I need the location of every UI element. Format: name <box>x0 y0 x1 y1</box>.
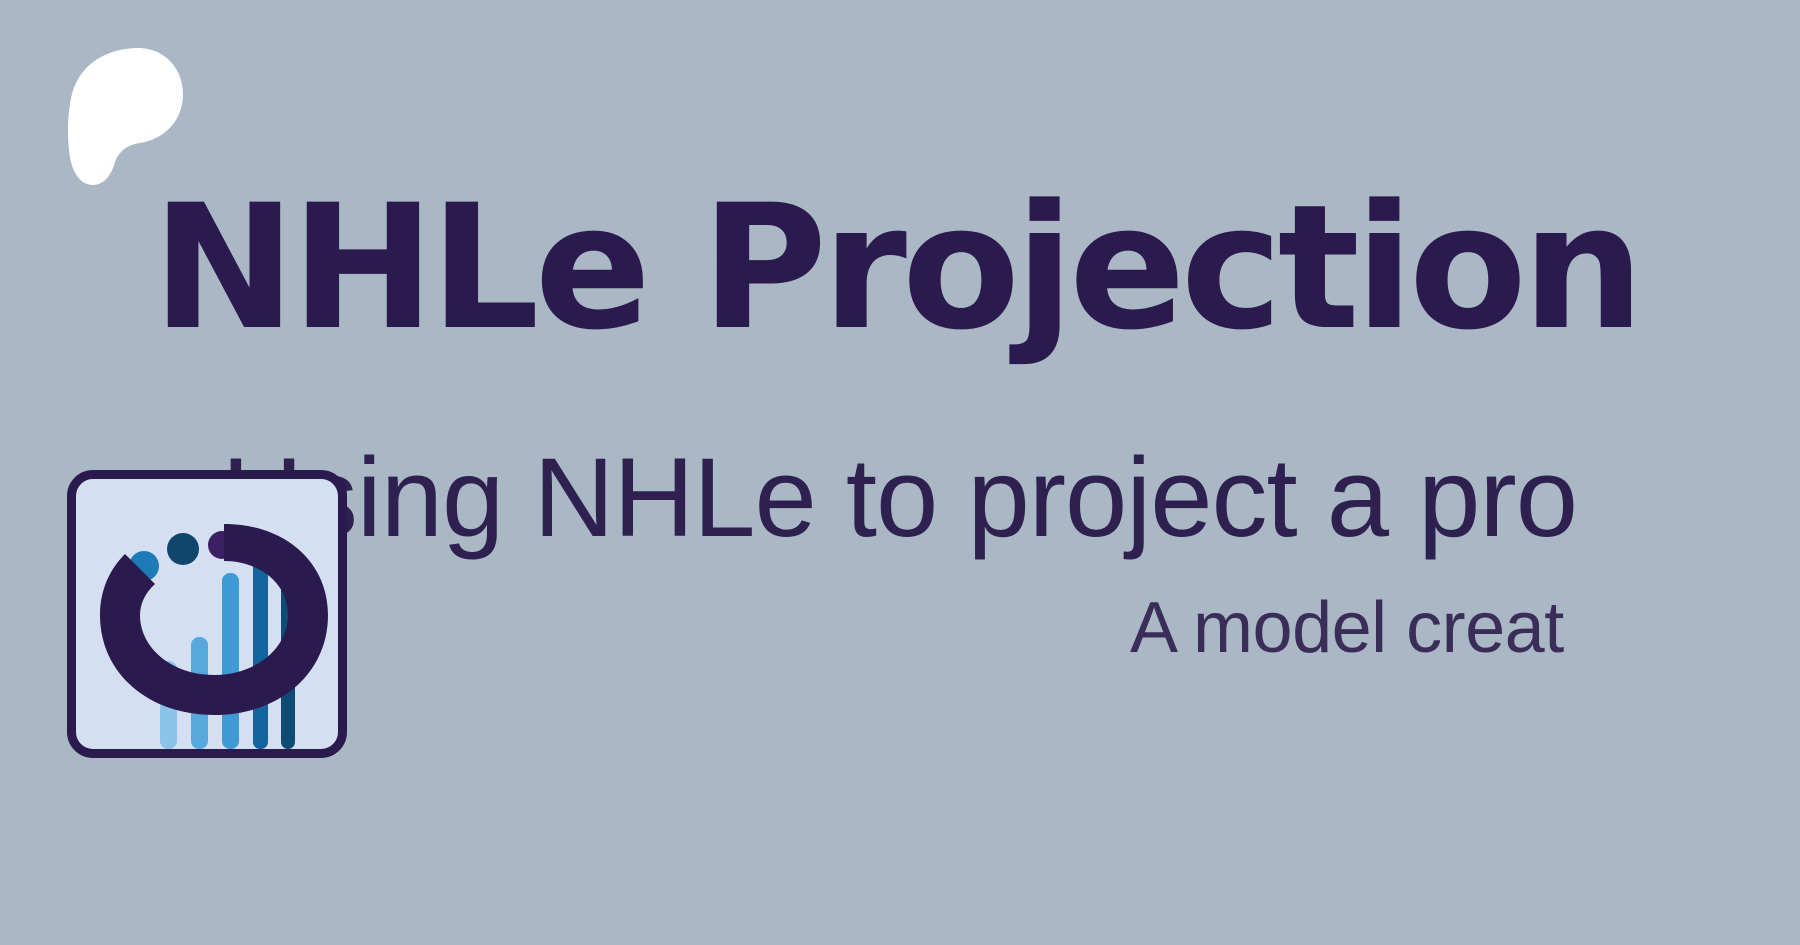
post-subtitle: Using NHLe to project a pro <box>222 442 1577 554</box>
post-header-canvas: NHLe Projection Using NHLe to project a … <box>0 0 1800 945</box>
logo-dots <box>129 531 236 581</box>
page-title: NHLe Projection <box>152 182 1639 354</box>
avatar[interactable] <box>67 470 347 758</box>
post-byline: A model creat <box>1130 592 1564 664</box>
